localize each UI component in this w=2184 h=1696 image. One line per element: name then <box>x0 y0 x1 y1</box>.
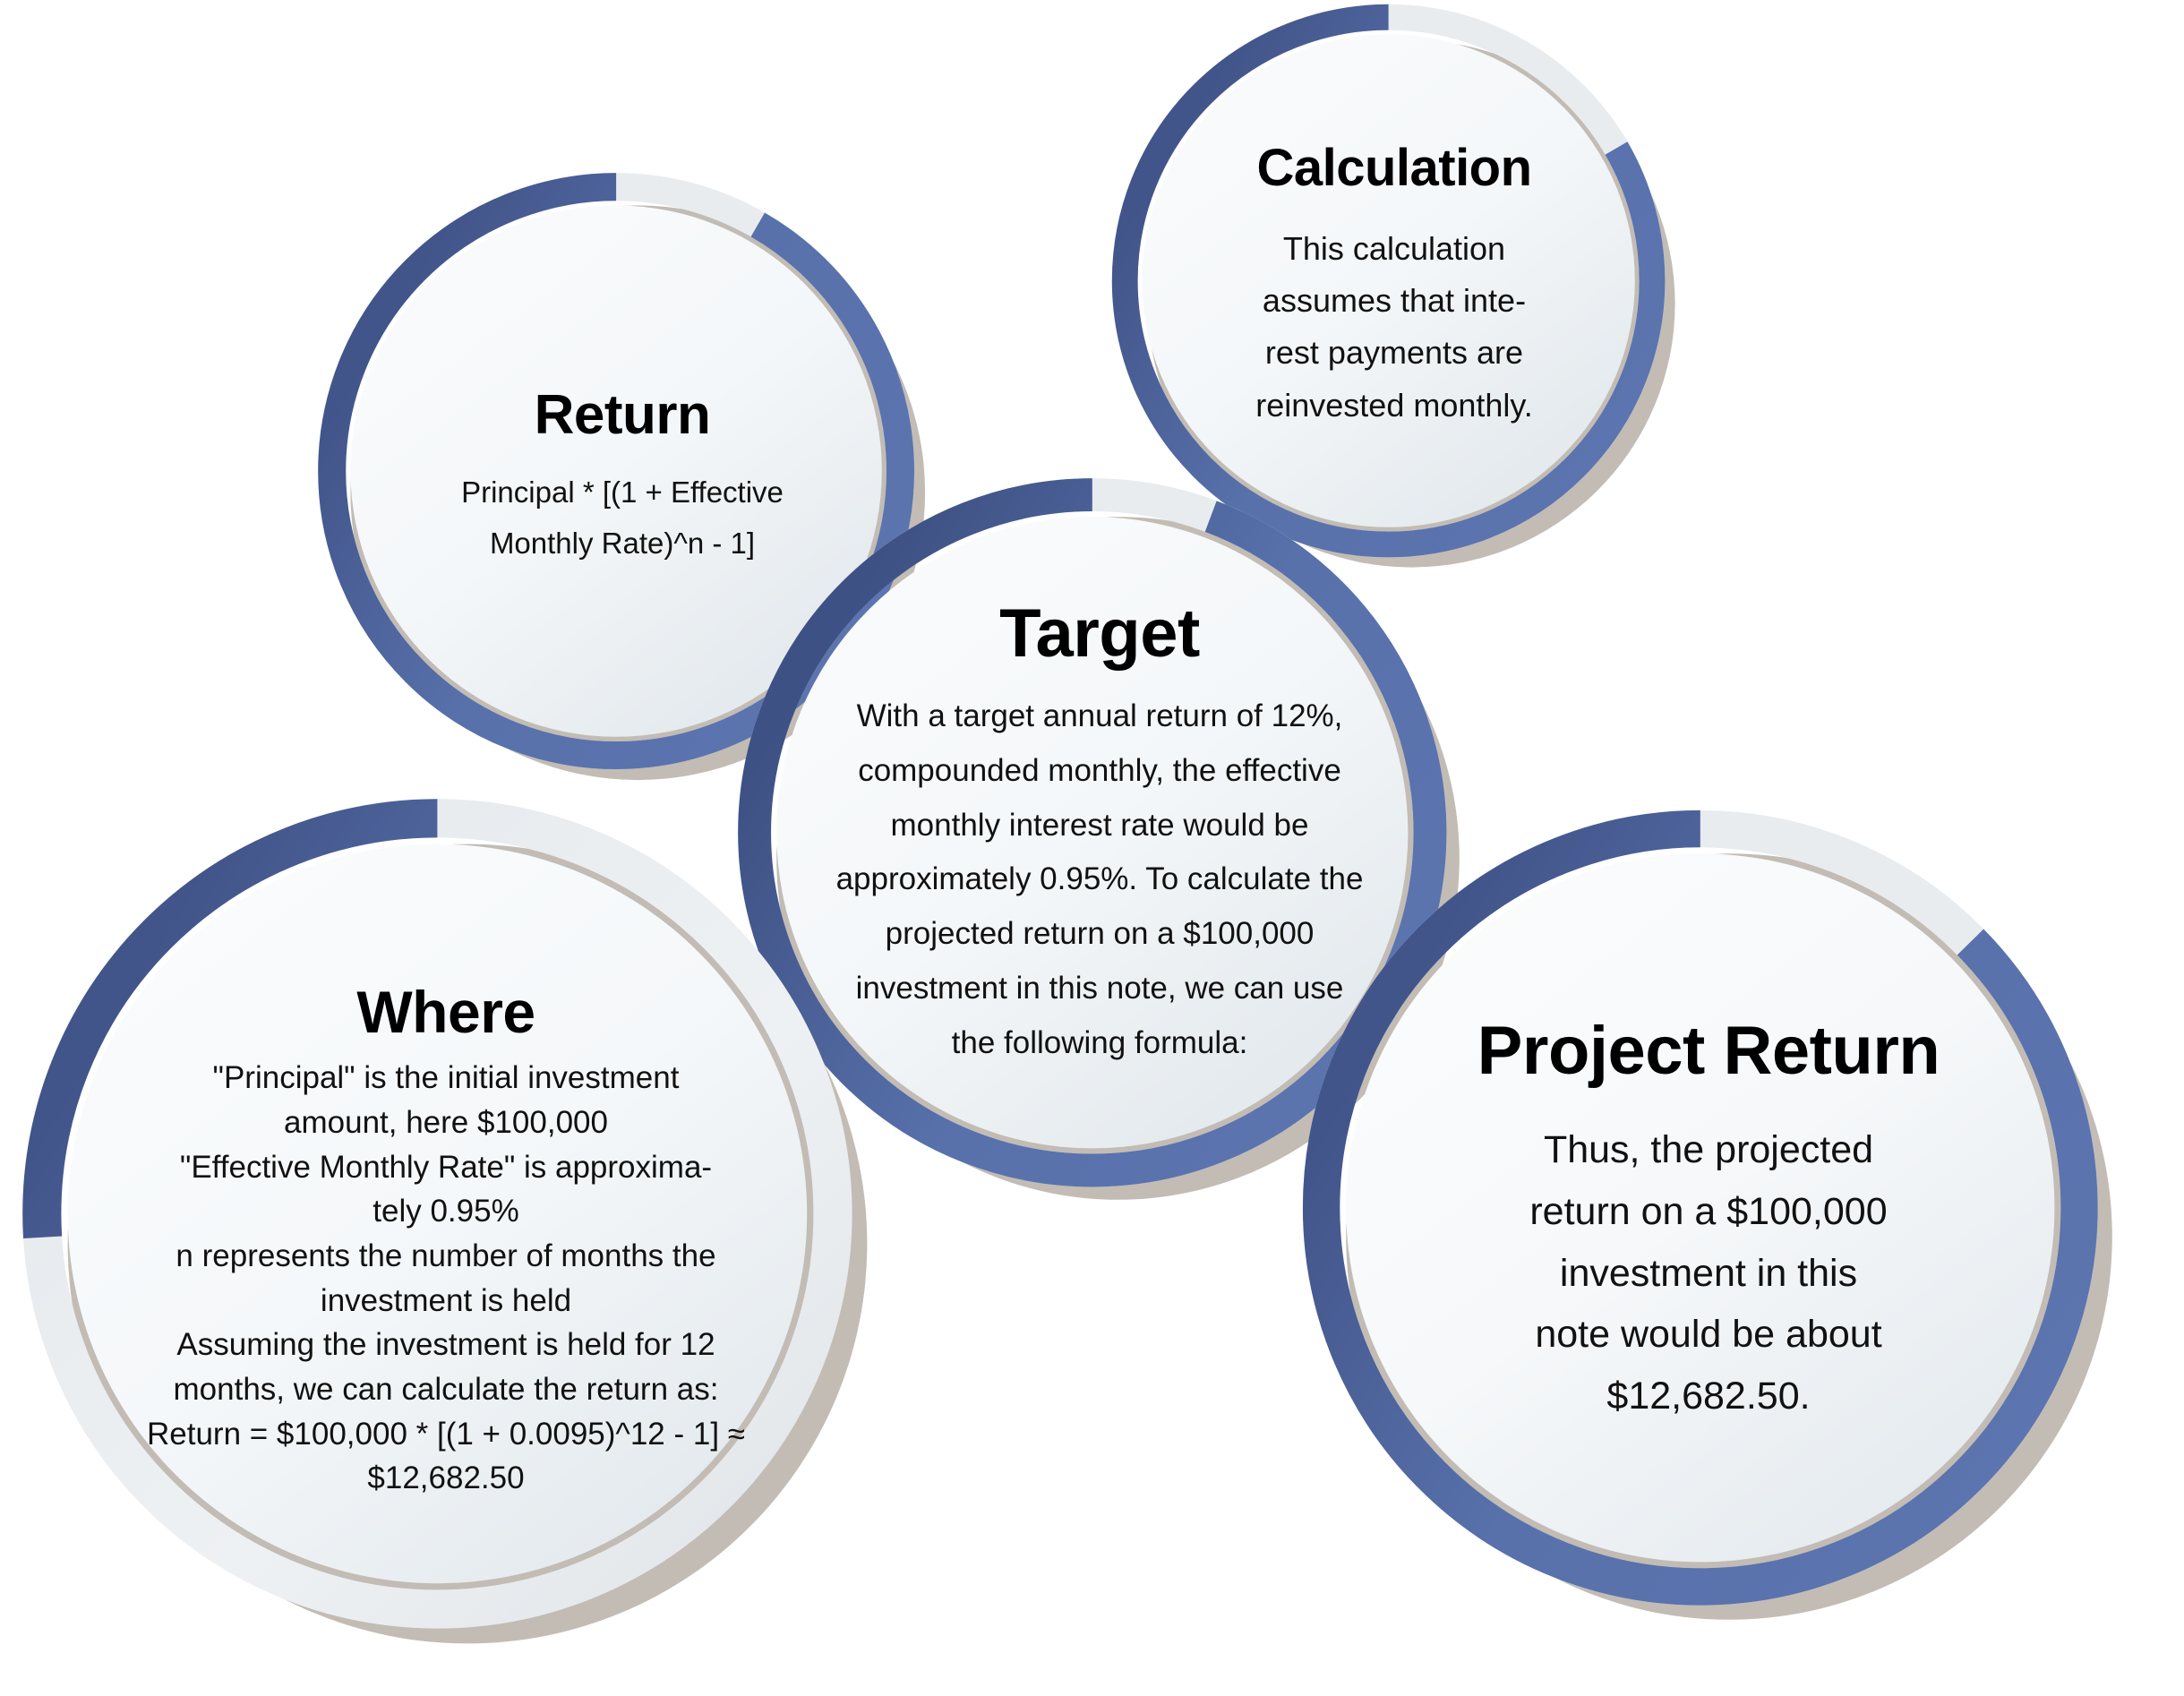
node-title-target: Target <box>999 598 1200 670</box>
diagram-canvas: Return Principal * [(1 + Effective Month… <box>0 0 2184 1696</box>
node-body-target: With a target annual return of 12%, comp… <box>836 690 1364 1071</box>
content-calculation: Calculation This calculation assumes tha… <box>1174 66 1614 507</box>
node-title-where: Where <box>356 981 535 1043</box>
node-title-return: Return <box>535 386 711 444</box>
node-title-project-return: Project Return <box>1477 1015 1940 1087</box>
circle-node-project-return[interactable]: Project Return Thus, the projected retur… <box>1297 804 2120 1628</box>
content-project-return: Project Return Thus, the projected retur… <box>1393 912 2024 1531</box>
node-body-calculation: This calculation assumes that inte- rest… <box>1255 223 1532 432</box>
node-title-calculation: Calculation <box>1256 141 1531 196</box>
node-body-project-return: Thus, the projected return on a $100,000… <box>1529 1119 1887 1427</box>
node-body-where: "Principal" is the initial investment am… <box>147 1056 745 1501</box>
content-where: Where "Principal" is the initial investm… <box>113 927 779 1555</box>
circle-node-where[interactable]: Where "Principal" is the initial investm… <box>16 792 876 1652</box>
